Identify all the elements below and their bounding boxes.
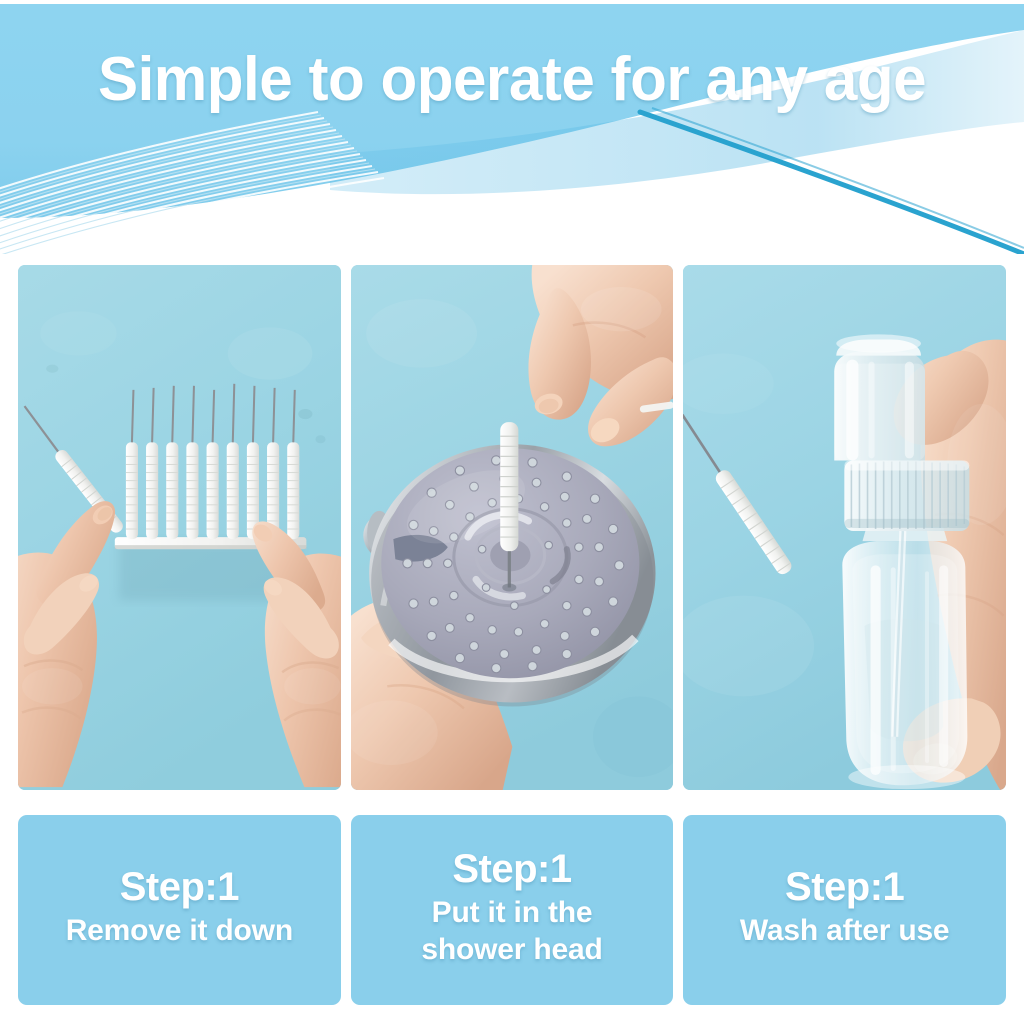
step-label-3: Step:1 xyxy=(785,866,904,909)
step-description-3-line-1: Wash after use xyxy=(740,913,950,950)
caption-row: Step:1 Remove it down Step:1 Put it in t… xyxy=(18,815,1006,1005)
step-description-2-line-2: shower head xyxy=(421,932,602,969)
photo-row xyxy=(18,265,1006,790)
brush-strip-detach-photo xyxy=(18,265,341,790)
caption-box-2: Step:1 Put it in the shower head xyxy=(351,815,674,1005)
step-label-1: Step:1 xyxy=(120,866,239,909)
step-description-1-line-1: Remove it down xyxy=(66,913,293,950)
page-title: Simple to operate for any age xyxy=(15,44,1008,115)
step-description-2-line-1: Put it in the xyxy=(421,895,602,932)
photo-panel-2 xyxy=(351,265,674,790)
caption-box-1: Step:1 Remove it down xyxy=(18,815,341,1005)
photo-panel-3 xyxy=(683,265,1006,790)
infographic-page: Simple to operate for any age xyxy=(0,0,1024,1024)
header-wave-graphic xyxy=(0,4,1024,254)
step-description-3: Wash after use xyxy=(740,913,950,950)
header-banner: Simple to operate for any age xyxy=(0,4,1024,254)
step-label-2: Step:1 xyxy=(452,848,571,891)
shower-head-insert-photo xyxy=(351,265,674,790)
spray-bottle-wash-photo xyxy=(683,265,1006,790)
photo-panel-1 xyxy=(18,265,341,790)
caption-box-3: Step:1 Wash after use xyxy=(683,815,1006,1005)
step-description-1: Remove it down xyxy=(66,913,293,950)
step-description-2: Put it in the shower head xyxy=(421,895,602,968)
